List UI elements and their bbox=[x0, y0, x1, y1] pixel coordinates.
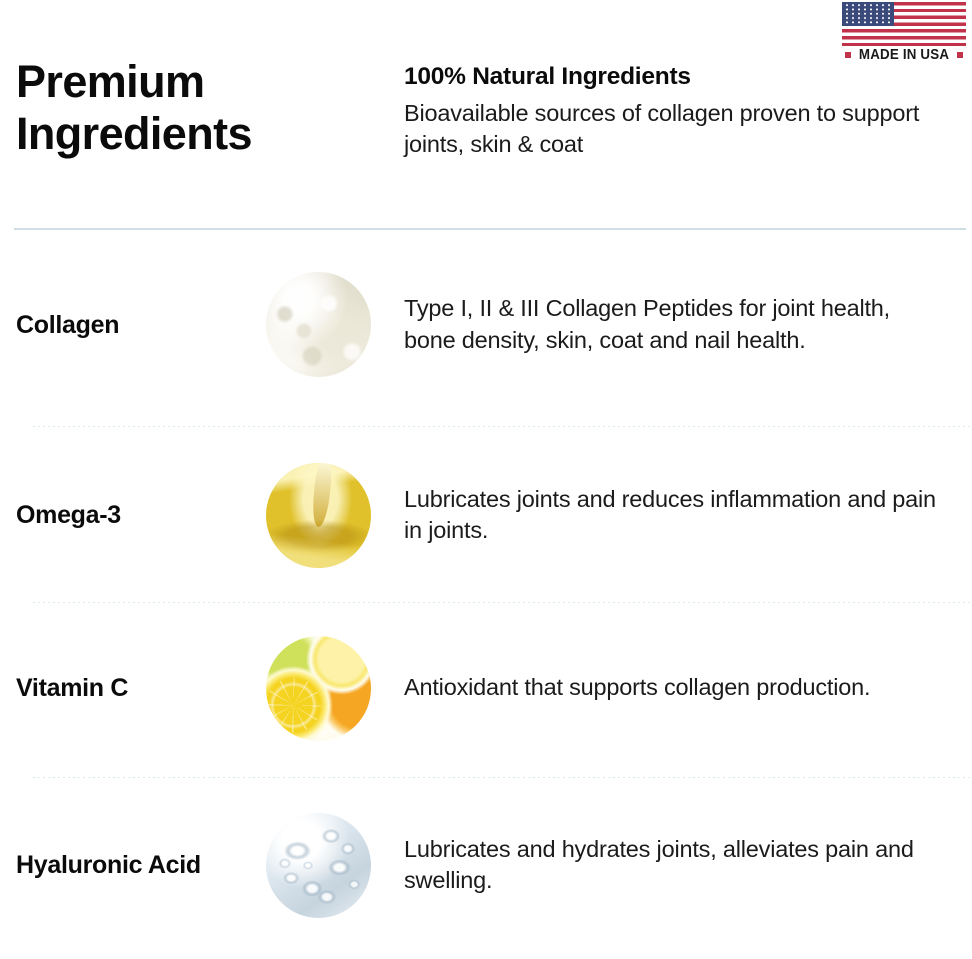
header-divider bbox=[14, 228, 966, 230]
water-droplets-image bbox=[266, 813, 371, 918]
ingredient-row-hyaluronic-acid: Hyaluronic Acid Lubricates and hydrates … bbox=[0, 812, 972, 918]
intro-block: 100% Natural Ingredients Bioavailable so… bbox=[404, 62, 944, 160]
flag-stars bbox=[844, 3, 892, 25]
ingredient-description: Lubricates and hydrates joints, alleviat… bbox=[404, 834, 972, 897]
collagen-powder-image bbox=[266, 272, 371, 377]
ingredient-description: Lubricates joints and reduces inflammati… bbox=[404, 484, 972, 547]
omega-3-oil-image bbox=[266, 463, 371, 568]
ingredient-row-collagen: Collagen Type I, II & III Collagen Pepti… bbox=[0, 262, 972, 387]
ingredient-thumb-cell bbox=[232, 636, 404, 741]
ingredient-description: Antioxidant that supports collagen produ… bbox=[404, 672, 972, 703]
ingredient-description: Type I, II & III Collagen Peptides for j… bbox=[404, 293, 972, 356]
flag-canton bbox=[842, 2, 894, 26]
row-divider bbox=[33, 602, 970, 603]
american-flag-icon bbox=[842, 2, 966, 46]
ingredient-row-vitamin-c: Vitamin C Antioxidant that supports coll… bbox=[0, 635, 972, 741]
ingredient-name: Collagen bbox=[0, 309, 232, 341]
ingredient-thumb-cell bbox=[232, 272, 404, 377]
intro-headline: 100% Natural Ingredients bbox=[404, 62, 944, 91]
page-title: Premium Ingredients bbox=[16, 56, 376, 160]
ingredient-name: Vitamin C bbox=[0, 672, 232, 704]
intro-subtext: Bioavailable sources of collagen proven … bbox=[404, 98, 944, 160]
row-divider bbox=[33, 426, 970, 427]
ingredient-name: Omega-3 bbox=[0, 499, 232, 531]
ingredient-name: Hyaluronic Acid bbox=[0, 849, 232, 881]
header-section: Premium Ingredients 100% Natural Ingredi… bbox=[0, 52, 972, 212]
ingredient-thumb-cell bbox=[232, 813, 404, 918]
ingredient-thumb-cell bbox=[232, 463, 404, 568]
citrus-fruit-image bbox=[266, 636, 371, 741]
row-divider bbox=[33, 777, 970, 778]
ingredient-row-omega-3: Omega-3 Lubricates joints and reduces in… bbox=[0, 462, 972, 568]
ingredients-infographic: MADE IN USA Premium Ingredients 100% Nat… bbox=[0, 0, 972, 959]
